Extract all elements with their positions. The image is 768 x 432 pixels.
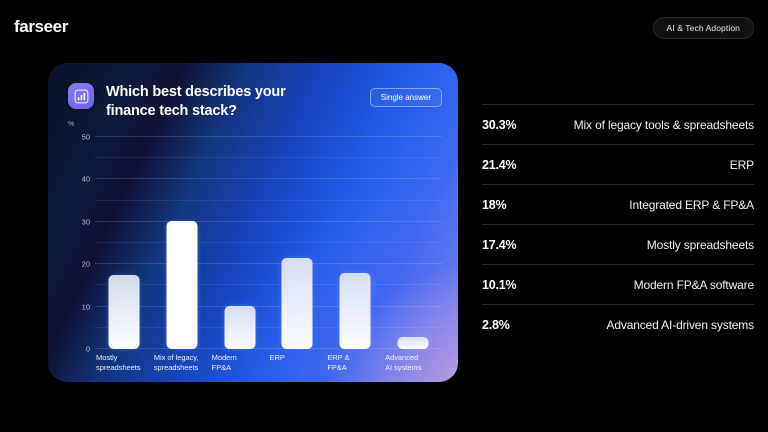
bar-slot — [211, 137, 269, 349]
result-percentage: 18% — [482, 198, 534, 212]
result-label: Mostly spreadsheets — [534, 238, 754, 252]
x-axis-label: AdvancedAI systems — [385, 353, 443, 374]
x-axis-label: ModernFP&A — [212, 353, 270, 374]
bar-slot — [384, 137, 442, 349]
x-axis-label-line: ERP & — [327, 353, 385, 363]
result-label: Modern FP&A software — [534, 278, 754, 292]
y-axis: 01020304050 — [68, 137, 90, 349]
chart-card-header: Which best describes your finance tech s… — [68, 83, 442, 121]
bar[interactable] — [398, 337, 429, 349]
top-bar: farseer AI & Tech Adoption — [0, 0, 768, 56]
x-axis-label-line: FP&A — [327, 363, 385, 373]
result-row: 17.4%Mostly spreadsheets — [482, 224, 754, 264]
x-axis-label-line: FP&A — [212, 363, 270, 373]
x-axis-label: Mix of legacy,spreadsheets — [154, 353, 212, 374]
result-label: Advanced AI-driven systems — [534, 318, 754, 332]
y-axis-tick: 10 — [68, 302, 90, 311]
chart-card: Which best describes your finance tech s… — [48, 63, 458, 382]
x-axis-label-line: spreadsheets — [154, 363, 212, 373]
result-row: 2.8%Advanced AI-driven systems — [482, 304, 754, 344]
y-axis-unit-label: % — [68, 121, 74, 128]
results-list: 30.3%Mix of legacy tools & spreadsheets2… — [482, 104, 754, 344]
result-percentage: 2.8% — [482, 318, 534, 332]
bar-slot — [326, 137, 384, 349]
x-axis-labels: MostlyspreadsheetsMix of legacy,spreadsh… — [95, 353, 442, 382]
bar[interactable] — [224, 306, 255, 349]
bar-slot — [269, 137, 327, 349]
result-percentage: 21.4% — [482, 158, 534, 172]
x-axis-label-line: Modern — [212, 353, 270, 363]
y-axis-tick: 0 — [68, 345, 90, 354]
result-row: 18%Integrated ERP & FP&A — [482, 184, 754, 224]
result-row: 30.3%Mix of legacy tools & spreadsheets — [482, 104, 754, 144]
result-row: 10.1%Modern FP&A software — [482, 264, 754, 304]
bar[interactable] — [166, 221, 197, 349]
result-label: Mix of legacy tools & spreadsheets — [534, 118, 754, 132]
result-row: 21.4%ERP — [482, 144, 754, 184]
result-percentage: 17.4% — [482, 238, 534, 252]
x-axis-label-line: Mostly — [96, 353, 154, 363]
x-axis-label-line: Mix of legacy, — [154, 353, 212, 363]
brand-logo: farseer — [14, 17, 68, 37]
bar-chart-plot: % 01020304050 MostlyspreadsheetsMix of l… — [68, 121, 442, 369]
bar[interactable] — [282, 258, 313, 349]
result-label: ERP — [534, 158, 754, 172]
x-axis-label-line: Advanced — [385, 353, 443, 363]
y-axis-tick: 40 — [68, 175, 90, 184]
y-axis-tick: 30 — [68, 217, 90, 226]
chart-bars — [95, 137, 442, 349]
topic-badge: AI & Tech Adoption — [653, 17, 754, 39]
x-axis-label: Mostlyspreadsheets — [96, 353, 154, 374]
bar[interactable] — [108, 275, 139, 349]
x-axis-label-line: ERP — [270, 353, 328, 363]
bar-chart-icon — [68, 83, 94, 109]
bar-slot — [95, 137, 153, 349]
y-axis-tick: 50 — [68, 133, 90, 142]
bar-slot — [153, 137, 211, 349]
x-axis-label-line: AI systems — [385, 363, 443, 373]
chart-title: Which best describes your finance tech s… — [106, 83, 338, 121]
chart-card-inner: Which best describes your finance tech s… — [48, 63, 458, 382]
x-axis-label-line: spreadsheets — [96, 363, 154, 373]
y-axis-tick: 20 — [68, 260, 90, 269]
x-axis-label: ERP — [270, 353, 328, 363]
result-label: Integrated ERP & FP&A — [534, 198, 754, 212]
x-axis-label: ERP &FP&A — [327, 353, 385, 374]
result-percentage: 10.1% — [482, 278, 534, 292]
bar[interactable] — [340, 273, 371, 349]
result-percentage: 30.3% — [482, 118, 534, 132]
answer-type-badge: Single answer — [370, 88, 442, 107]
